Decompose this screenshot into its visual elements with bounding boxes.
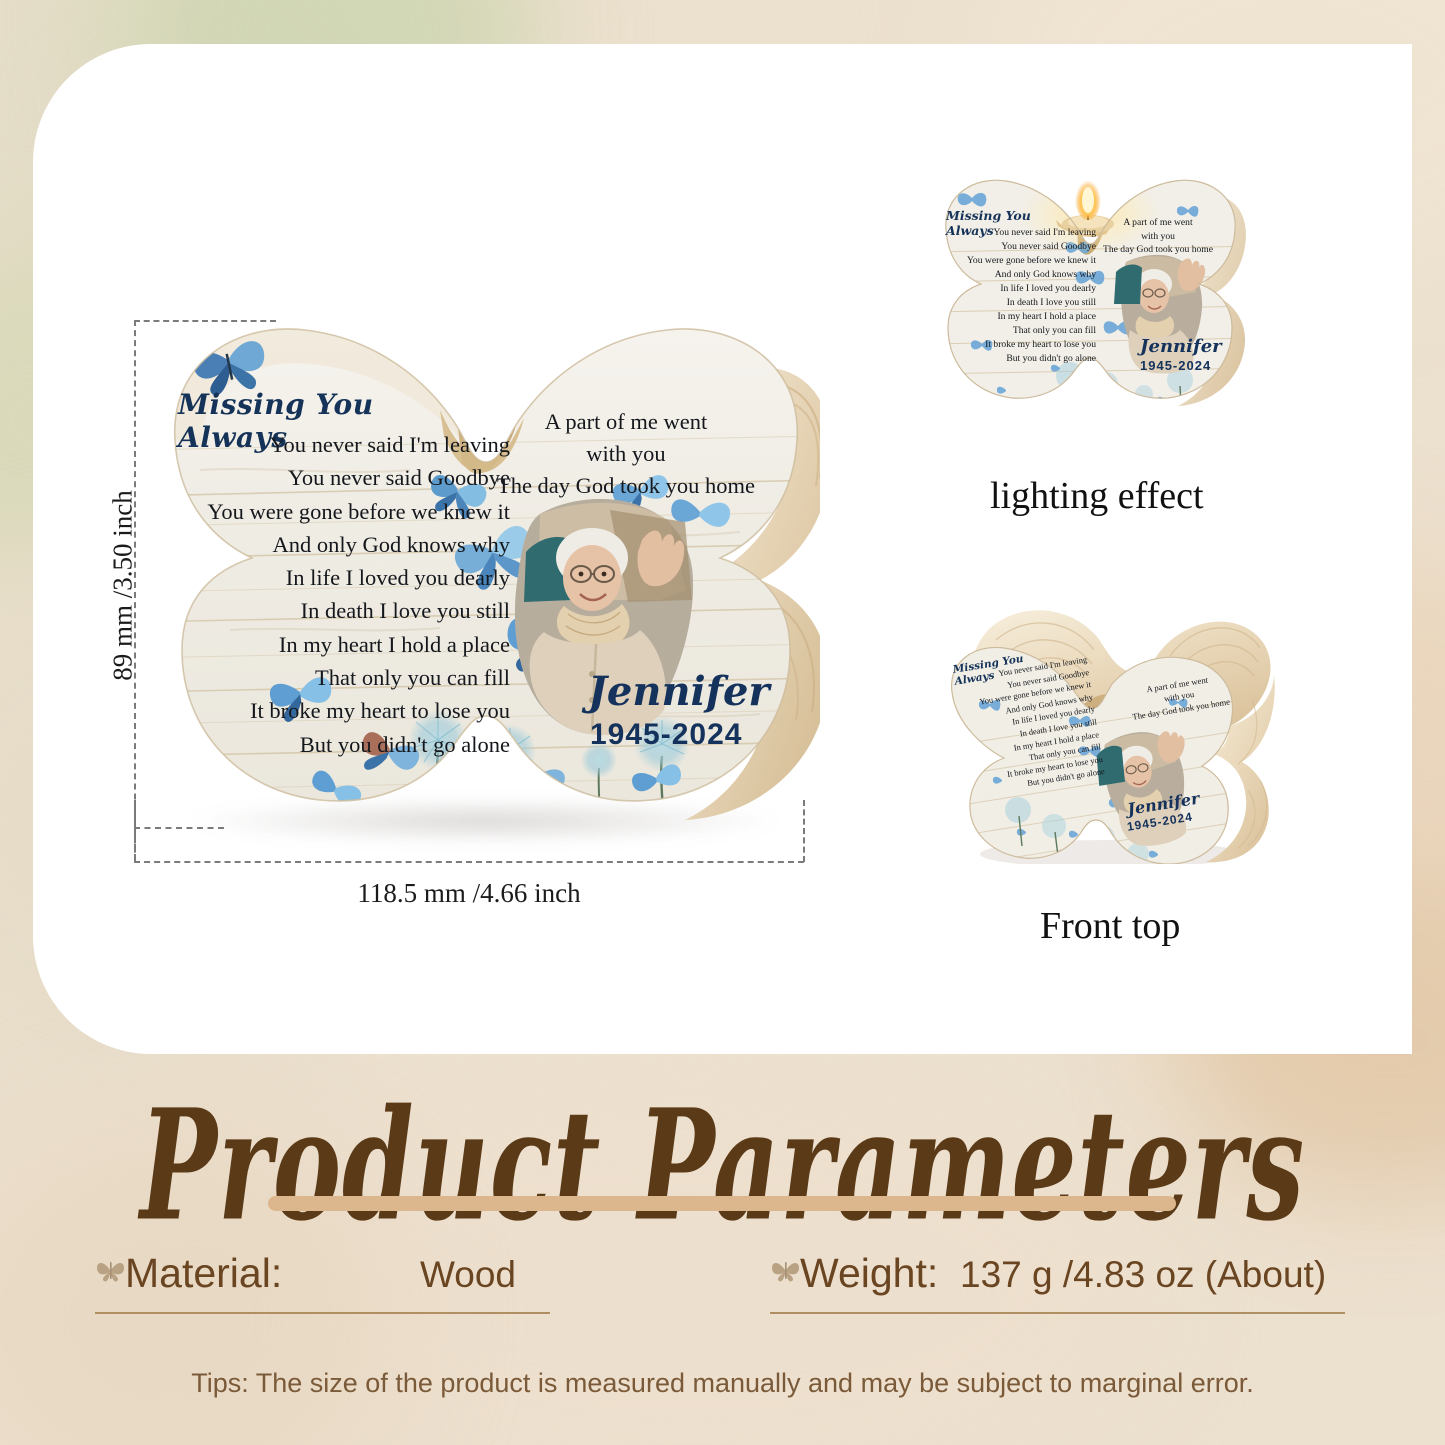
guide-horizontal-top [134, 320, 276, 322]
caption-lighting-effect: lighting effect [990, 474, 1204, 518]
spec-label-material: Material: [125, 1250, 282, 1297]
thumbnail-front-top[interactable]: Missing You Always You never said I'm le… [930, 592, 1280, 864]
spec-rule-material [95, 1312, 550, 1314]
main-product-butterfly-plaque: Missing You Always You never said I'm le… [140, 300, 820, 860]
spec-weight: Weight: 137 g /4.83 oz (About) [770, 1250, 1345, 1320]
thumbnail-lighting-effect[interactable]: Missing You Always You never said I'm le… [930, 168, 1260, 416]
spec-label-weight: Weight: [800, 1250, 938, 1297]
guide-horizontal-bottom [134, 861, 804, 863]
tips-note: Tips: The size of the product is measure… [0, 1368, 1445, 1399]
thumb1-name: Jennifer [1140, 336, 1222, 357]
spec-value-material: Wood [420, 1254, 516, 1296]
plaque-years: 1945-2024 [590, 718, 742, 752]
plaque-name: Jennifer [588, 668, 769, 715]
butterfly-icon [95, 1257, 127, 1283]
heading-underline [268, 1196, 1176, 1211]
thumb1-poem-left: You never said I'm leaving You never sai… [936, 226, 1096, 366]
butterfly-icon [770, 1257, 802, 1283]
thumb1-poem-right: A part of me went with you The day God t… [1093, 216, 1223, 257]
plaque-poem-left: You never said I'm leaving You never sai… [164, 428, 510, 761]
dimension-height-label: 89 mm /3.50 inch [108, 486, 139, 686]
spec-rule-weight [770, 1312, 1345, 1314]
guide-horizontal-mid [134, 827, 224, 829]
dimension-width-label: 118.5 mm /4.66 inch [254, 878, 684, 909]
guide-vertical-bottom-left [134, 800, 136, 862]
guide-vertical-right [803, 800, 805, 862]
thumb2-poem-left: You never said I'm leaving You never sai… [936, 654, 1106, 802]
spec-value-weight: 137 g /4.83 oz (About) [960, 1254, 1326, 1296]
caption-front-top: Front top [1040, 904, 1180, 948]
plaque-poem-right: A part of me went with you The day God t… [492, 406, 760, 502]
thumb1-years: 1945-2024 [1140, 358, 1211, 373]
product-parameters-heading: Product Parameters [130, 1077, 1315, 1255]
spec-material: Material: Wood [95, 1250, 550, 1320]
